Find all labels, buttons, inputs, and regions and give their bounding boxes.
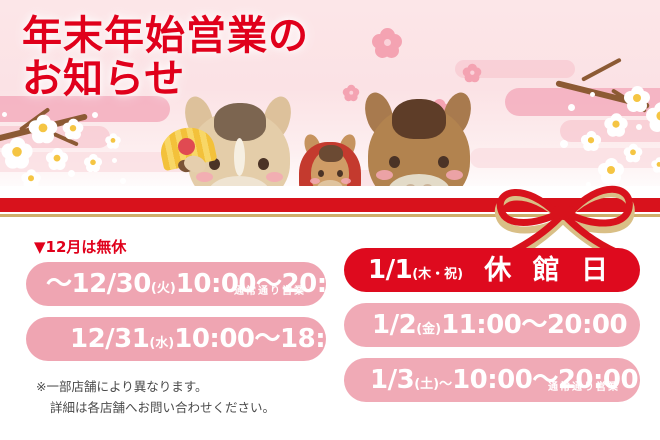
schedule-note: 通常通り営業: [548, 378, 620, 393]
schedule-date: 1/1(木・祝): [344, 257, 463, 283]
title-line-1: 年末年始営業の: [22, 13, 309, 58]
folding-fan-icon: [160, 128, 214, 174]
schedule-date: 〜12/30(火): [26, 271, 176, 297]
schedule-date: 1/3(土)〜: [344, 367, 452, 393]
day-of-week: (金): [416, 322, 441, 337]
schedule-row: 〜12/30(火) 10:00〜20:00 通常通り営業: [26, 262, 326, 306]
day-of-week: (水): [149, 336, 174, 351]
new-year-hours-poster: 年末年始営業の お知らせ: [0, 0, 660, 440]
schedule-hours: 11:00〜20:00: [441, 312, 655, 338]
title-line-2: お知らせ: [22, 57, 309, 100]
schedule-row-closed: 1/1(木・祝) 休 館 日: [344, 248, 640, 292]
schedule-row: 1/2(金) 11:00〜20:00: [344, 303, 640, 347]
schedule-row: 12/31(水) 10:00〜18:00: [26, 317, 326, 361]
schedule-date: 1/2(金): [344, 312, 441, 338]
day-of-week: (木・祝): [412, 267, 463, 282]
schedule-left-column: ▼12月は無休 〜12/30(火) 10:00〜20:00 通常通り営業 12/…: [26, 222, 326, 418]
date-text: 1/1: [368, 255, 412, 285]
day-of-week: (火): [151, 281, 176, 296]
schedule-row: 1/3(土)〜 10:00〜20:00 通常通り営業: [344, 358, 640, 402]
footnote-line-1: ※一部店舗により異なります。: [36, 379, 207, 394]
day-of-week: (土)〜: [414, 377, 452, 392]
date-text: 1/2: [372, 310, 416, 340]
date-text: 1/3: [370, 365, 414, 395]
schedule-section: ▼12月は無休 〜12/30(火) 10:00〜20:00 通常通り営業 12/…: [0, 222, 660, 440]
schedule-date: 12/31(水): [26, 326, 174, 352]
schedule-note: 通常通り営業: [234, 282, 306, 297]
schedule-right-column: 1/1(木・祝) 休 館 日 1/2(金) 11:00〜20:00 1/3(土)…: [344, 222, 640, 413]
december-no-holiday-heading: ▼12月は無休: [34, 236, 326, 257]
closed-label: 休 館 日: [484, 257, 640, 284]
footnote-line-2: 詳細は各店舗へお問い合わせください。: [36, 398, 326, 419]
footnote: ※一部店舗により異なります。 詳細は各店舗へお問い合わせください。: [36, 377, 326, 418]
date-text: 〜12/30: [46, 269, 151, 299]
page-title: 年末年始営業の お知らせ: [22, 14, 309, 100]
date-text: 12/31: [70, 324, 149, 354]
